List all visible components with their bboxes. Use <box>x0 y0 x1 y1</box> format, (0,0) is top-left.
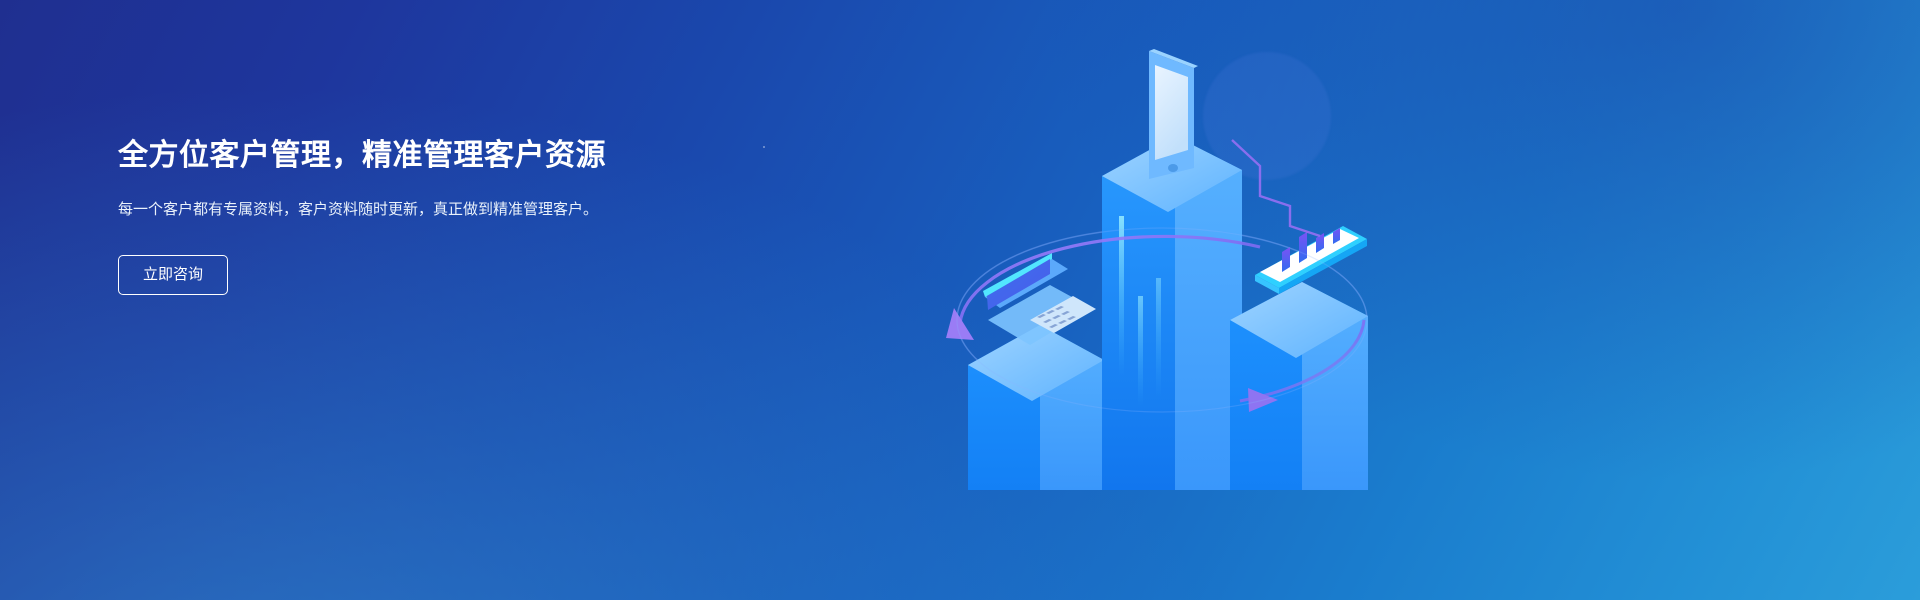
hero-subtitle: 每一个客户都有专属资料，客户资料随时更新，真正做到精准管理客户。 <box>118 198 598 221</box>
left-pillar <box>968 325 1104 490</box>
page-title: 全方位客户管理，精准管理客户资源 <box>118 136 758 176</box>
laptop-icon <box>983 253 1096 345</box>
zigzag-connector <box>1232 140 1320 236</box>
isometric-data-pillars-illustration <box>930 20 1400 490</box>
center-pillar <box>1102 136 1242 490</box>
right-pillar <box>1230 282 1368 490</box>
hero-copy-block: 全方位客户管理，精准管理客户资源 每一个客户都有专属资料，客户资料随时更新，真正… <box>118 136 758 295</box>
tablet-icon <box>1149 49 1198 179</box>
consult-now-button[interactable]: 立即咨询 <box>118 255 228 295</box>
hero-banner: 全方位客户管理，精准管理客户资源 每一个客户都有专属资料，客户资料随时更新，真正… <box>0 0 1920 600</box>
background-speck-decoration <box>763 146 765 148</box>
